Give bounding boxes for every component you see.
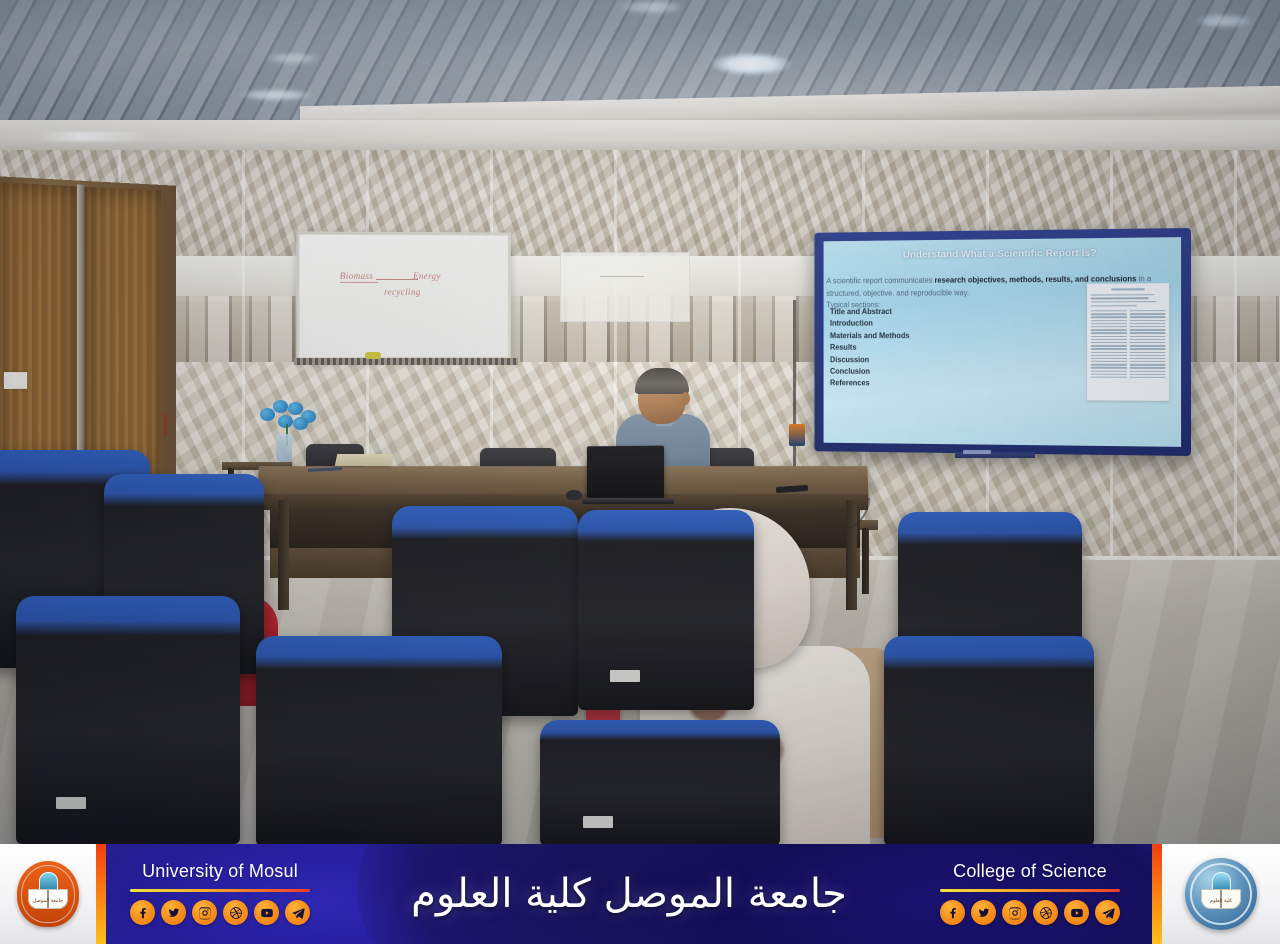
display-cable [793,300,796,490]
whiteboard-marker [365,352,381,359]
slide-intro-lead: A scientific report communicates [826,276,934,285]
slide-section-item: Introduction [830,318,910,330]
slide-paper-thumbnail [1087,283,1169,401]
university-underline [130,889,310,892]
whiteboard-underline [340,282,378,283]
twitter-icon[interactable] [161,900,186,925]
emblem-caption: كلية العلوم [1201,898,1241,904]
auditorium-chair [884,636,1094,844]
whiteboard-text-left: Biomass [340,271,373,281]
secondary-board [560,252,690,322]
ceiling-light [710,52,792,76]
whiteboard-arrow [376,279,418,280]
stack-of-papers [335,454,394,466]
left-accent-bar [96,844,106,944]
college-label: College of Science [940,861,1120,882]
slide-section-item: References [830,378,910,390]
auditorium-chair [578,510,754,710]
telegram-icon[interactable] [285,900,310,925]
whiteboard-text-below: recycling [384,287,421,297]
ceiling-light [1195,14,1253,28]
university-logo-cell: جامعة الموصل [0,844,96,944]
wall-socket [789,424,805,446]
dribbble-icon[interactable] [223,900,248,925]
university-of-mosul-emblem: جامعة الموصل [17,861,79,927]
arabic-calligraphy: جامعة الموصل كلية العلوم [411,871,847,917]
slide-section-item: Discussion [830,354,910,366]
ceiling-light [265,53,321,64]
youtube-icon[interactable] [254,900,279,925]
laptop-screen [587,446,664,499]
slide-section-item: Title and Abstract [830,306,910,318]
display-screen: Understand What a Scientific Report Is? … [824,237,1181,447]
secondary-board-mark [600,276,644,277]
college-underline [940,889,1120,892]
right-accent-bar [1152,844,1162,944]
footer-banner: جامعة الموصل University of Mosul [0,844,1280,944]
facebook-icon[interactable] [940,900,965,925]
door-sign [4,372,27,389]
university-label: University of Mosul [130,861,310,882]
presentation-display: Understand What a Scientific Report Is? … [814,228,1191,456]
college-social-links [940,900,1120,925]
chair-number-tag [583,816,613,828]
presenter-ear [681,392,690,405]
whiteboard-text-right: Energy [413,271,441,281]
slide-title: Understand What a Scientific Report Is? [824,246,1181,261]
auditorium-chair [256,636,502,844]
footer-blue-panel: University of Mosul [106,844,1152,944]
slide-section-item: Materials and Methods [830,330,910,342]
emblem-caption: جامعة الموصل [28,898,68,904]
university-social-links [130,900,310,925]
slide-section-item: Conclusion [830,366,910,378]
side-desk-right-leg [862,528,869,594]
flower-vase [276,434,292,462]
event-photo: Biomass Energy recycling Understand What… [0,0,1280,844]
door-hinge [164,414,168,435]
chair-number-tag [610,670,640,682]
whiteboard-tray [294,358,518,365]
instagram-icon[interactable] [192,900,217,925]
ceiling-light [239,89,313,101]
slide-section-list: Title and Abstract Introduction Material… [830,306,910,390]
cornice-strip-light [36,132,146,141]
college-block: College of Science [940,861,1120,925]
twitter-icon[interactable] [971,900,996,925]
table-leg [278,500,289,610]
computer-mouse [566,490,582,500]
dribbble-icon[interactable] [1033,900,1058,925]
chair-number-tag [56,797,86,809]
screenshot-root: Biomass Energy recycling Understand What… [0,0,1280,944]
college-of-science-emblem: كلية العلوم [1185,858,1257,930]
whiteboard: Biomass Energy recycling [296,231,510,360]
facebook-icon[interactable] [130,900,155,925]
auditorium-chair [16,596,240,844]
instagram-icon[interactable] [1002,900,1027,925]
laptop-keyboard [582,498,675,504]
college-logo-cell: كلية العلوم [1162,844,1280,944]
youtube-icon[interactable] [1064,900,1089,925]
display-brand-label [963,450,991,454]
ceiling-light [620,0,684,14]
telegram-icon[interactable] [1095,900,1120,925]
auditorium-chair [540,720,780,844]
university-block: University of Mosul [130,861,310,925]
slide-section-item: Results [830,342,910,354]
